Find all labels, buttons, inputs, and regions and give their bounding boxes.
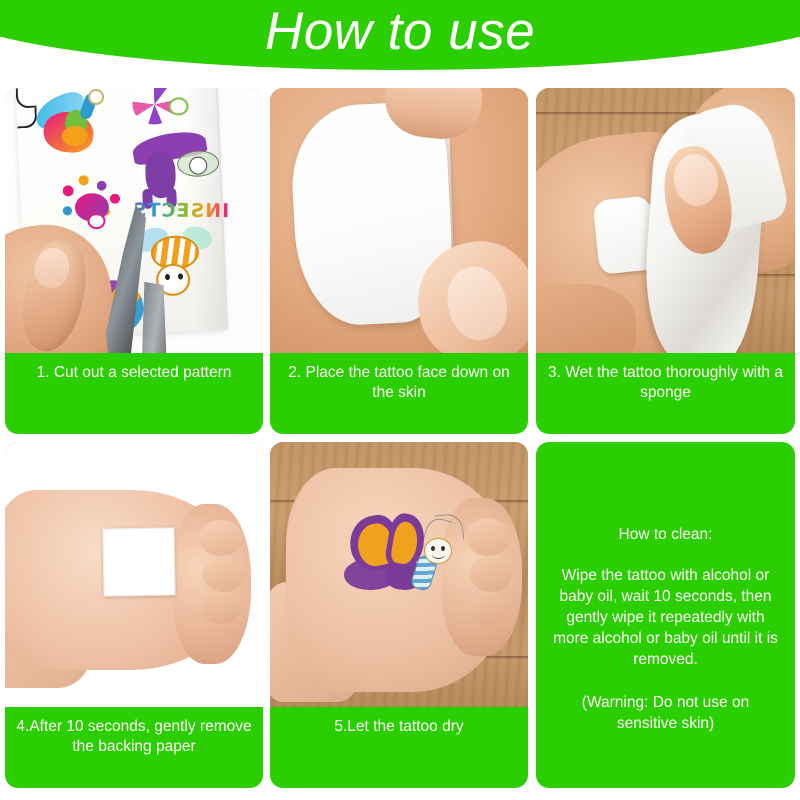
step-card-1: INSECTS 1. Cut out a selected pattern — [5, 88, 263, 434]
how-to-clean-card: How to clean: Wipe the tattoo with alcoh… — [536, 442, 795, 788]
step-4-caption: 4.After 10 seconds, gently remove the ba… — [5, 707, 263, 788]
step-card-2: 2. Place the tattoo face down on the ski… — [270, 88, 528, 434]
step-card-5: 5.Let the tattoo dry — [270, 442, 528, 788]
backing-paper-square — [102, 527, 175, 596]
step-3-photo-wet-tattoo — [536, 88, 795, 353]
step-5-caption: 5.Let the tattoo dry — [270, 707, 528, 788]
step-3-caption: 3. Wet the tattoo thoroughly with a spon… — [536, 353, 795, 434]
page-header: How to use — [0, 0, 800, 76]
step-1-photo-cut-pattern: INSECTS — [5, 88, 263, 353]
step-card-4: 4.After 10 seconds, gently remove the ba… — [5, 442, 263, 788]
clean-warning: (Warning: Do not use on sensitive skin) — [550, 692, 781, 734]
step-2-photo-place-tattoo — [270, 88, 528, 353]
clean-instructions: Wipe the tattoo with alcohol or baby oil… — [550, 565, 781, 670]
butterfly-tattoo — [344, 516, 460, 602]
step-1-caption: 1. Cut out a selected pattern — [5, 353, 263, 434]
step-2-caption: 2. Place the tattoo face down on the ski… — [270, 353, 528, 434]
how-to-use-infographic: How to use I — [0, 0, 800, 800]
clean-title: How to clean: — [550, 524, 781, 545]
page-title: How to use — [0, 1, 800, 63]
step-4-photo-remove-backing — [5, 442, 263, 707]
step-card-3: 3. Wet the tattoo thoroughly with a spon… — [536, 88, 795, 434]
step-5-photo-let-dry — [270, 442, 528, 707]
steps-grid: INSECTS 1. Cut out a selected pattern — [5, 88, 795, 788]
